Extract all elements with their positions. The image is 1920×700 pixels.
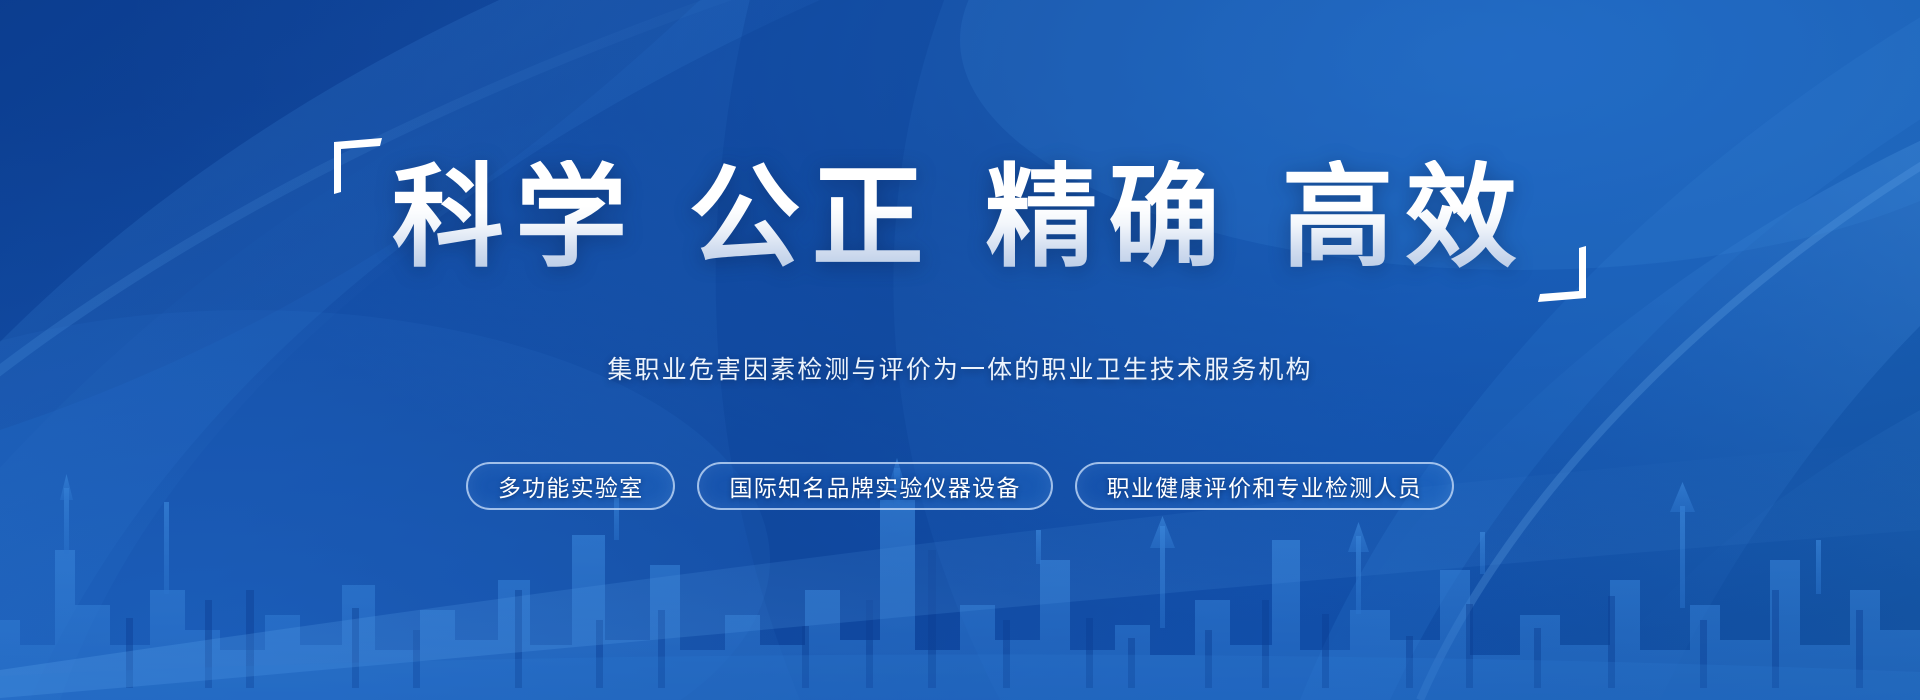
feature-pill-lab[interactable]: 多功能实验室 xyxy=(466,462,676,510)
headline-container: 科学 公正 精确 高效 xyxy=(0,160,1920,276)
feature-pill-equipment[interactable]: 国际知名品牌实验仪器设备 xyxy=(697,462,1052,510)
promo-banner: 科学 公正 精确 高效 集职业危害因素检测与评价为一体的职业卫生技术服务机构 多… xyxy=(0,0,1920,700)
close-bracket-icon xyxy=(1536,244,1588,302)
feature-pill-personnel[interactable]: 职业健康评价和专业检测人员 xyxy=(1075,462,1454,510)
headline-block: 科学 公正 精确 高效 xyxy=(336,160,1584,276)
subtitle-text: 集职业危害因素检测与评价为一体的职业卫生技术服务机构 xyxy=(0,350,1920,386)
feature-pill-row: 多功能实验室 国际知名品牌实验仪器设备 职业健康评价和专业检测人员 xyxy=(0,462,1920,510)
open-bracket-icon xyxy=(332,138,384,196)
banner-content: 科学 公正 精确 高效 集职业危害因素检测与评价为一体的职业卫生技术服务机构 多… xyxy=(0,0,1920,700)
headline-text: 科学 公正 精确 高效 xyxy=(392,160,1528,276)
